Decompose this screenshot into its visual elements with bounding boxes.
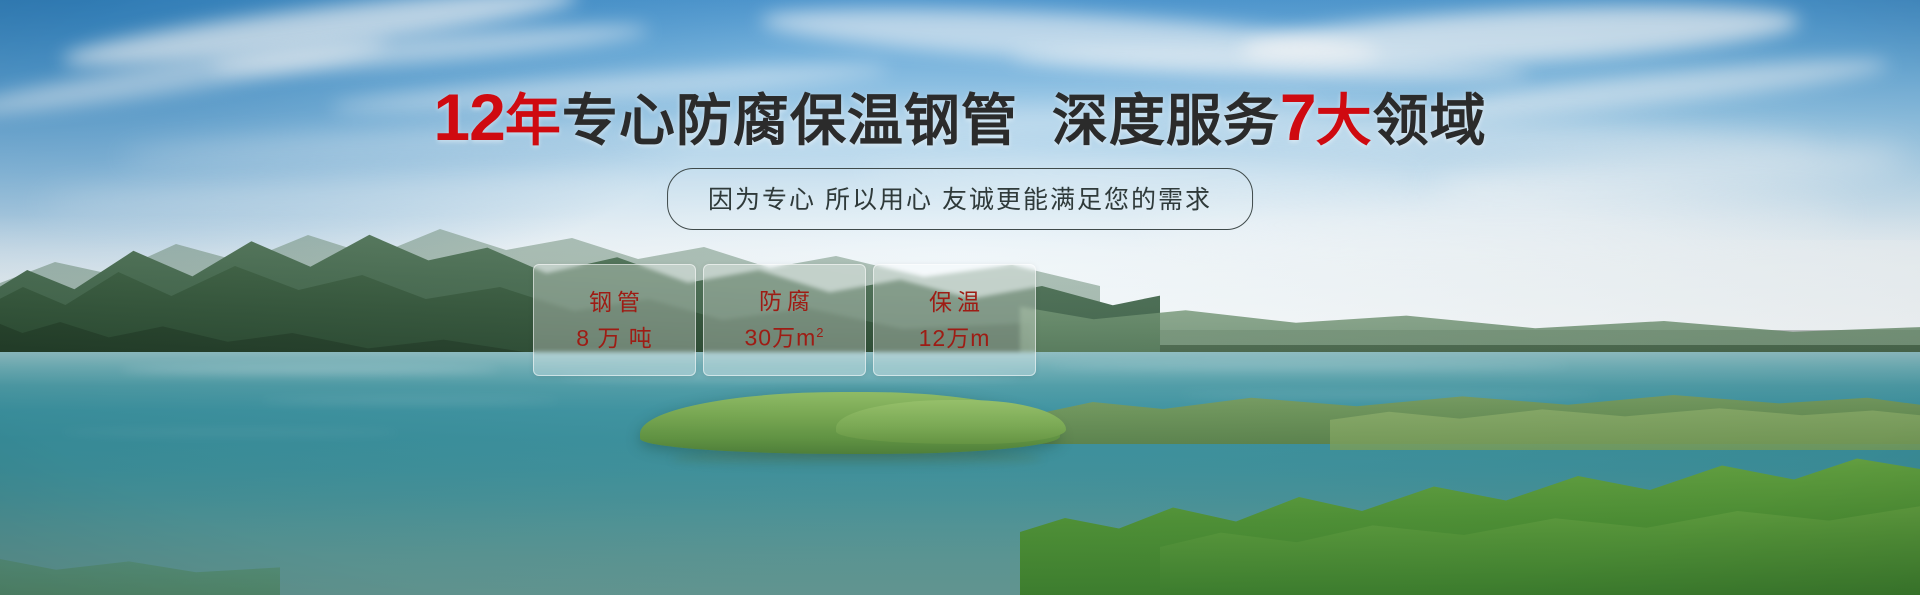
headline-years-number: 12 xyxy=(433,80,504,154)
stat-card-title: 钢管 xyxy=(584,291,645,314)
headline: 12年专心防腐保温钢管深度服务7大领域 xyxy=(0,84,1920,150)
stat-card-anticorrosion: 防腐 30万m2 xyxy=(703,264,866,376)
stat-card-value: 8 万 吨 xyxy=(576,327,653,350)
stat-card-title: 保温 xyxy=(924,291,985,314)
stat-card-value-text: 8 万 吨 xyxy=(576,325,653,351)
headline-service-text: 深度服务 xyxy=(1052,89,1280,152)
stat-card-value-superscript: 2 xyxy=(816,325,824,340)
stat-card-value: 12万m xyxy=(919,327,991,350)
stat-card-value-text: 12万m xyxy=(919,325,991,351)
stat-card-title: 防腐 xyxy=(754,290,815,313)
stat-card-steel-pipe: 钢管 8 万 吨 xyxy=(533,264,696,376)
stat-card-value: 30万m2 xyxy=(745,326,825,350)
hero-banner: 12年专心防腐保温钢管深度服务7大领域 因为专心 所以用心 友诚更能满足您的需求… xyxy=(0,0,1920,595)
headline-years-unit: 年 xyxy=(505,89,562,152)
stat-card-value-text: 30万m xyxy=(745,325,817,351)
banner-content: 12年专心防腐保温钢管深度服务7大领域 因为专心 所以用心 友诚更能满足您的需求… xyxy=(0,0,1920,595)
stat-card-insulation: 保温 12万m xyxy=(873,264,1036,376)
headline-fields-text: 领域 xyxy=(1373,89,1487,152)
headline-fields-unit: 大 xyxy=(1316,89,1373,152)
headline-main-text: 专心防腐保温钢管 xyxy=(562,89,1018,152)
headline-fields-number: 7 xyxy=(1280,80,1316,154)
subtitle-pill: 因为专心 所以用心 友诚更能满足您的需求 xyxy=(667,168,1253,230)
stat-cards: 钢管 8 万 吨 防腐 30万m2 保温 12万m xyxy=(533,264,1036,376)
